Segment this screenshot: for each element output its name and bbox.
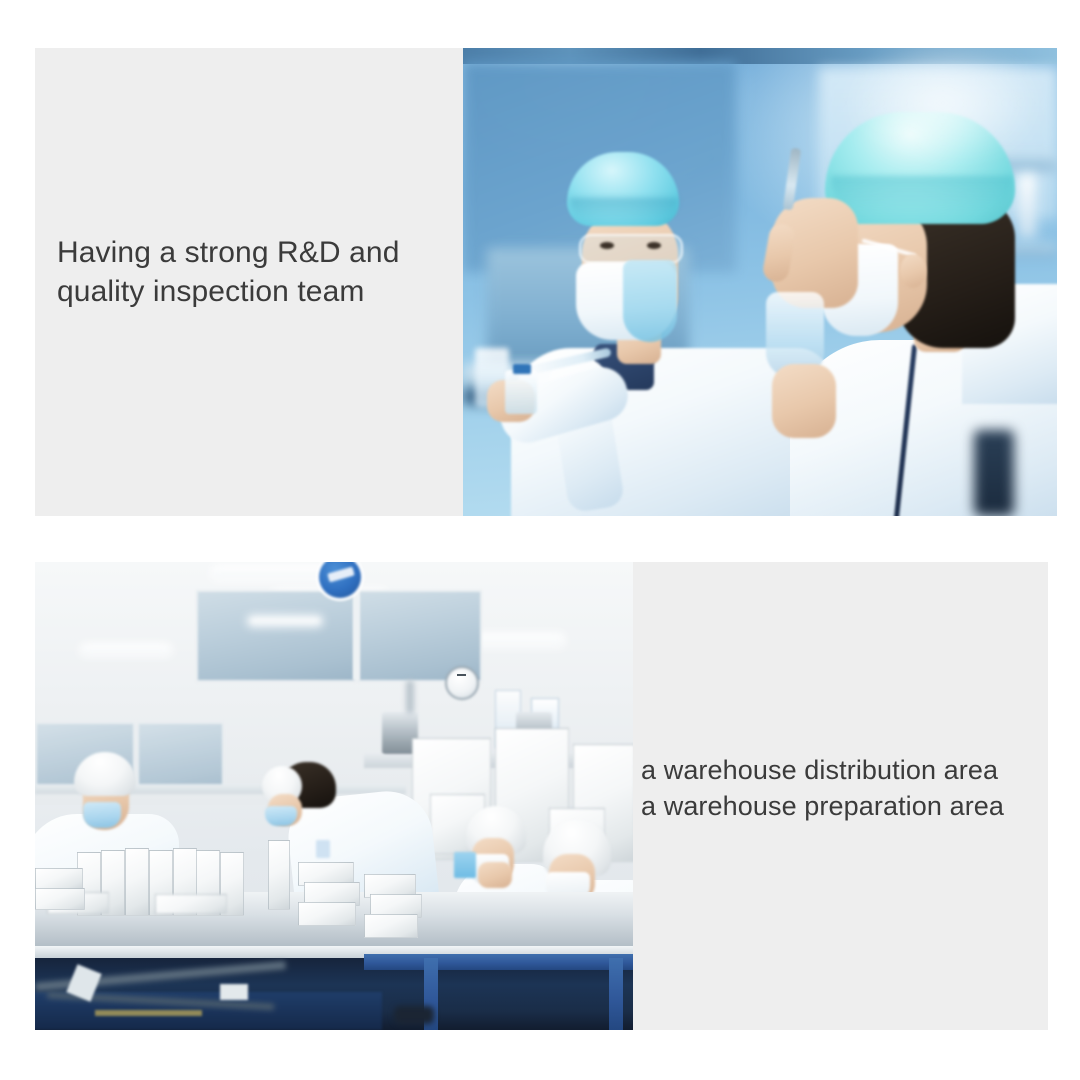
equipment-hose [406,680,414,714]
ceiling-light-a [214,568,334,577]
lab-worker-left-mask-overlay [623,260,677,342]
cleanroom-window-mullion [353,588,359,680]
lab-light-bloom [843,48,1043,168]
partition-glass-b [137,722,225,790]
carton-row-3 [125,848,149,916]
carton-stack-left-2 [35,888,85,910]
carton-stack-right-3 [364,914,418,938]
section-rnd-quality: Having a strong R&D and quality inspecti… [35,48,1057,516]
section-warehouse-areas: a warehouse distribution area a warehous… [35,562,1048,1030]
cleanroom-window-left [196,590,355,682]
worker1-mask [83,802,121,828]
window-interior-light [250,618,320,624]
wall-clock-icon [445,666,479,700]
carton-stack-left-1 [35,868,83,890]
worker4-held-carton [454,852,476,878]
lab-worker-right-lower-hand [772,364,836,438]
floor-marking [95,1010,203,1016]
lab-worker-right-ear [900,254,926,288]
carton-flat-b [155,894,227,914]
lab-worker-right-hairnet-fold [831,176,1013,214]
caption-panel-rnd: Having a strong R&D and quality inspecti… [35,48,463,516]
carton-upright-center [268,840,290,910]
lab-bottle-shelf-c [1018,174,1036,238]
table-leg-far-right [609,958,623,1030]
lab-worker-left-hairnet-shade [570,198,678,220]
table-frame-rail [364,954,633,970]
caption-warehouse-areas: a warehouse distribution area a warehous… [641,752,1051,824]
carton-stack-mid-3 [298,902,356,926]
worker4-hand [478,862,512,888]
worker2-mask [265,806,297,826]
worker2-badge [316,840,330,858]
lab-worker-left-eye-left [600,242,614,249]
warehouse-packing-photo [35,562,633,1030]
lab-reagent-bottle-cap [513,364,531,374]
wall-clock-hand [457,674,466,676]
lab-inspection-photo [463,48,1057,516]
lab-worker-left-eye-right [647,242,661,249]
under-table-box [220,984,248,1000]
ceiling-light-b [83,646,169,653]
caption-rnd-quality: Having a strong R&D and quality inspecti… [57,233,457,311]
worker-shoe [394,1006,434,1024]
caption-panel-warehouse: a warehouse distribution area a warehous… [633,562,1048,1030]
lab-stool [974,430,1014,516]
page-root: Having a strong R&D and quality inspecti… [0,0,1080,1080]
lab-reagent-bottle [505,370,537,414]
